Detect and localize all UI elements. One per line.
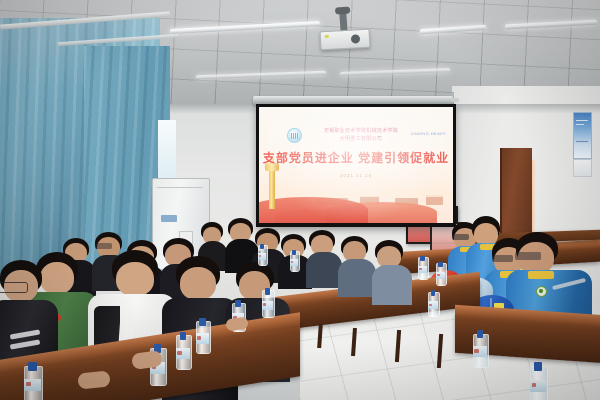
bottle-label xyxy=(176,348,190,359)
student-person xyxy=(372,240,412,302)
uniform-collar xyxy=(528,271,554,279)
water-bottle[interactable] xyxy=(436,262,445,286)
water-bottle[interactable] xyxy=(24,362,41,400)
bottle-label xyxy=(196,333,209,344)
slide-date: 2021.11.26 xyxy=(259,173,453,178)
meeting-room-photo: 无锡职业技术学院机械技术学院 大明重工有限公司 DAMING HEAVY 支部党… xyxy=(0,0,600,400)
bottle-cap xyxy=(438,262,442,267)
bottle-label xyxy=(262,301,273,310)
school-emblem-icon xyxy=(287,128,302,143)
slide-haze-gradient xyxy=(259,179,453,197)
slide-main-title: 支部党员进企业 党建引领促就业 xyxy=(259,149,453,166)
slide-org-line-1: 无锡职业技术学院机械技术学院 xyxy=(305,127,417,135)
slide-mountain-graphic xyxy=(259,183,453,223)
water-bottle[interactable] xyxy=(290,250,298,272)
slide-company-brand: DAMING HEAVY xyxy=(411,131,446,136)
bottle-cap xyxy=(431,290,436,296)
water-bottle[interactable] xyxy=(530,362,546,400)
water-bottle[interactable] xyxy=(196,318,209,354)
glasses-icon xyxy=(515,252,541,260)
bottle-label xyxy=(473,346,487,357)
bottle-cap xyxy=(235,300,241,307)
water-bottle[interactable] xyxy=(176,332,190,370)
glasses-icon xyxy=(0,282,28,293)
bottle-cap xyxy=(292,250,296,255)
ac-vent-line xyxy=(157,187,203,188)
slide-org-line-2: 大明重工有限公司 xyxy=(305,135,417,143)
bottle-cap xyxy=(420,256,424,261)
water-bottle[interactable] xyxy=(262,288,273,318)
ac-brand-badge xyxy=(161,215,177,222)
water-bottle[interactable] xyxy=(258,244,266,266)
water-bottle[interactable] xyxy=(418,256,427,280)
ceiling-projector-icon xyxy=(320,29,371,51)
jacket xyxy=(338,259,376,297)
bottle-cap xyxy=(260,244,264,249)
head xyxy=(116,262,154,296)
jacket xyxy=(372,265,412,305)
bottle-label xyxy=(436,272,445,279)
poster-text-line xyxy=(576,120,588,121)
bottle-cap xyxy=(265,288,270,295)
bottle-cap xyxy=(534,362,542,371)
bottle-cap xyxy=(28,362,36,371)
poster-secondary-panel xyxy=(573,159,592,177)
bottle-cap xyxy=(180,332,187,340)
bottle-label xyxy=(428,301,438,309)
blue-wall-poster xyxy=(573,112,592,159)
bottle-label xyxy=(290,259,298,266)
glasses-icon xyxy=(95,243,112,249)
bottle-label xyxy=(24,379,41,391)
company-badge xyxy=(536,286,547,297)
bottle-cap xyxy=(477,330,484,338)
water-bottle[interactable] xyxy=(473,330,487,368)
projector-lens xyxy=(351,34,360,43)
student-person xyxy=(306,230,342,286)
bottle-label xyxy=(258,253,266,260)
head xyxy=(180,267,216,300)
bottle-label xyxy=(418,266,427,273)
water-bottle[interactable] xyxy=(428,290,438,317)
student-person xyxy=(338,236,376,294)
poster-text-line xyxy=(576,141,588,142)
projector-indicator xyxy=(325,35,329,38)
bottle-cap xyxy=(199,318,205,326)
projection-screen: 无锡职业技术学院机械技术学院 大明重工有限公司 DAMING HEAVY 支部党… xyxy=(256,104,456,227)
presentation-slide: 无锡职业技术学院机械技术学院 大明重工有限公司 DAMING HEAVY 支部党… xyxy=(259,107,453,223)
bottle-label xyxy=(530,380,546,393)
poster-text-line xyxy=(576,124,584,125)
jacket xyxy=(306,252,342,288)
